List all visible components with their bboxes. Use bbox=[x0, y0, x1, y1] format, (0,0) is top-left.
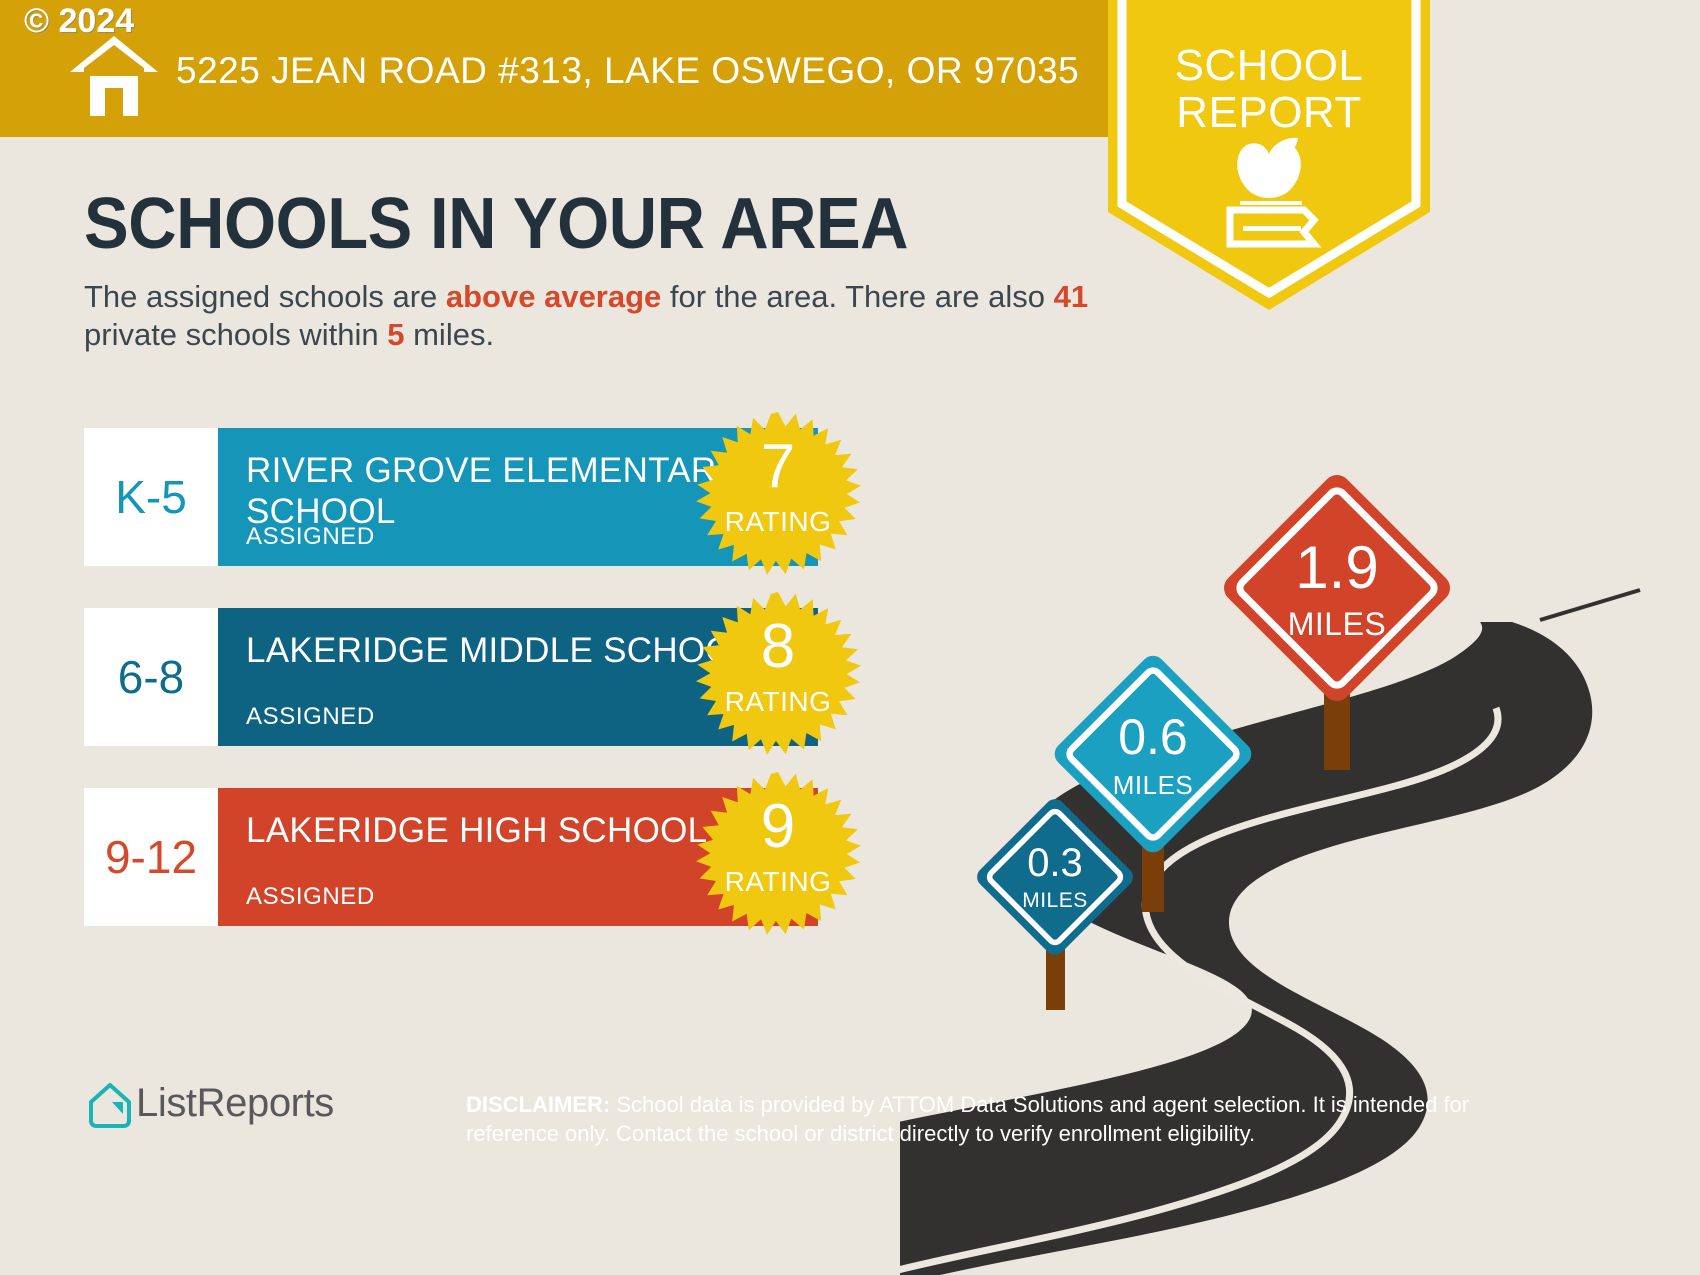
grade-range-box: 6-8 bbox=[84, 608, 218, 746]
page-title: SCHOOLS IN YOUR AREA bbox=[84, 183, 908, 265]
rating-badge: 9 RATING bbox=[688, 770, 868, 950]
subtitle-highlight-radius: 5 bbox=[387, 317, 404, 352]
school-status: ASSIGNED bbox=[246, 883, 375, 911]
subtitle-part-3: private schools within bbox=[84, 317, 387, 352]
disclaimer: DISCLAIMER: School data is provided by A… bbox=[466, 1090, 1476, 1148]
starburst-shape bbox=[696, 592, 861, 755]
subtitle-part-4: miles. bbox=[405, 317, 495, 352]
copyright-label: © 2024 bbox=[24, 2, 134, 41]
school-status: ASSIGNED bbox=[246, 703, 375, 731]
subtitle-highlight-rating: above average bbox=[446, 279, 661, 314]
disclaimer-body: School data is provided by ATTOM Data So… bbox=[466, 1092, 1469, 1146]
grade-range-box: K-5 bbox=[84, 428, 218, 566]
subtitle-part-1: The assigned schools are bbox=[84, 279, 446, 314]
subtitle-part-2: for the area. There are also bbox=[661, 279, 1053, 314]
school-report-badge bbox=[1108, 0, 1430, 310]
disclaimer-label: DISCLAIMER: bbox=[466, 1092, 610, 1117]
grade-range-label: 6-8 bbox=[118, 654, 184, 700]
school-status: ASSIGNED bbox=[246, 523, 375, 551]
horizon-line bbox=[1540, 590, 1640, 620]
rating-badge: 7 RATING bbox=[688, 410, 868, 590]
distance-sign: 0.3 MILES bbox=[968, 795, 1142, 1010]
infographic-canvas: © 2024 5225 JEAN ROAD #313, LAKE OSWEGO,… bbox=[0, 0, 1700, 1275]
starburst-shape bbox=[696, 412, 861, 575]
subtitle-highlight-count: 41 bbox=[1054, 279, 1088, 314]
property-address: 5225 JEAN ROAD #313, LAKE OSWEGO, OR 970… bbox=[176, 50, 1079, 92]
rating-badge: 8 RATING bbox=[688, 590, 868, 770]
home-icon bbox=[70, 36, 158, 116]
sign-plate bbox=[973, 795, 1137, 959]
grade-range-box: 9-12 bbox=[84, 788, 218, 926]
starburst-shape bbox=[696, 772, 861, 935]
subtitle: The assigned schools are above average f… bbox=[84, 278, 1094, 354]
grade-range-label: K-5 bbox=[115, 474, 187, 520]
listreports-wordmark[interactable]: ListReports bbox=[136, 1081, 334, 1126]
grade-range-label: 9-12 bbox=[105, 834, 197, 880]
